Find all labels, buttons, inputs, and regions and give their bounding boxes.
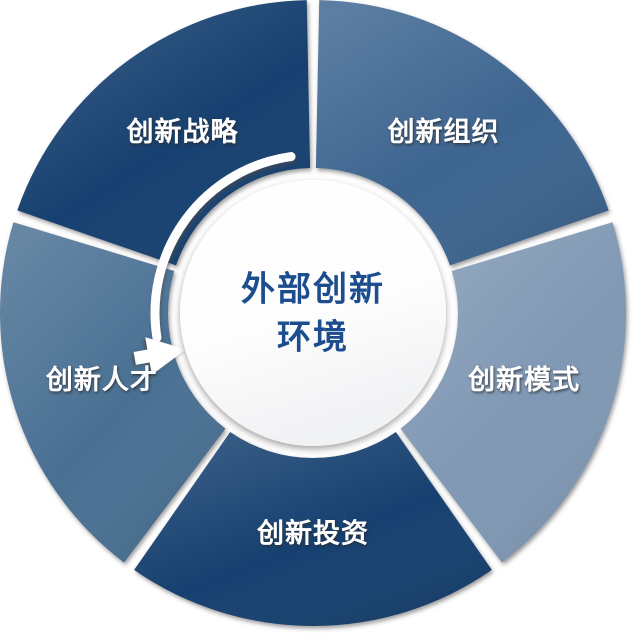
segment-label-innovation-investment: 创新投资 <box>256 518 369 550</box>
center-label-line1: 外部创新 <box>241 270 385 310</box>
segment-label-innovation-talent: 创新人才 <box>45 364 158 396</box>
segment-label-innovation-organization: 创新组织 <box>386 116 499 148</box>
innovation-cycle-diagram: 外部创新环境 创新组织创新模式创新投资创新人才创新战略 <box>0 0 640 639</box>
wheel-svg: 外部创新环境 创新组织创新模式创新投资创新人才创新战略 <box>0 0 640 639</box>
segment-label-innovation-model: 创新模式 <box>467 364 580 396</box>
segment-label-innovation-strategy: 创新战略 <box>126 116 239 148</box>
center-label-line2: 环境 <box>277 318 349 358</box>
center-circle[interactable] <box>180 180 446 446</box>
center-circle-group: 外部创新环境 <box>180 180 446 446</box>
